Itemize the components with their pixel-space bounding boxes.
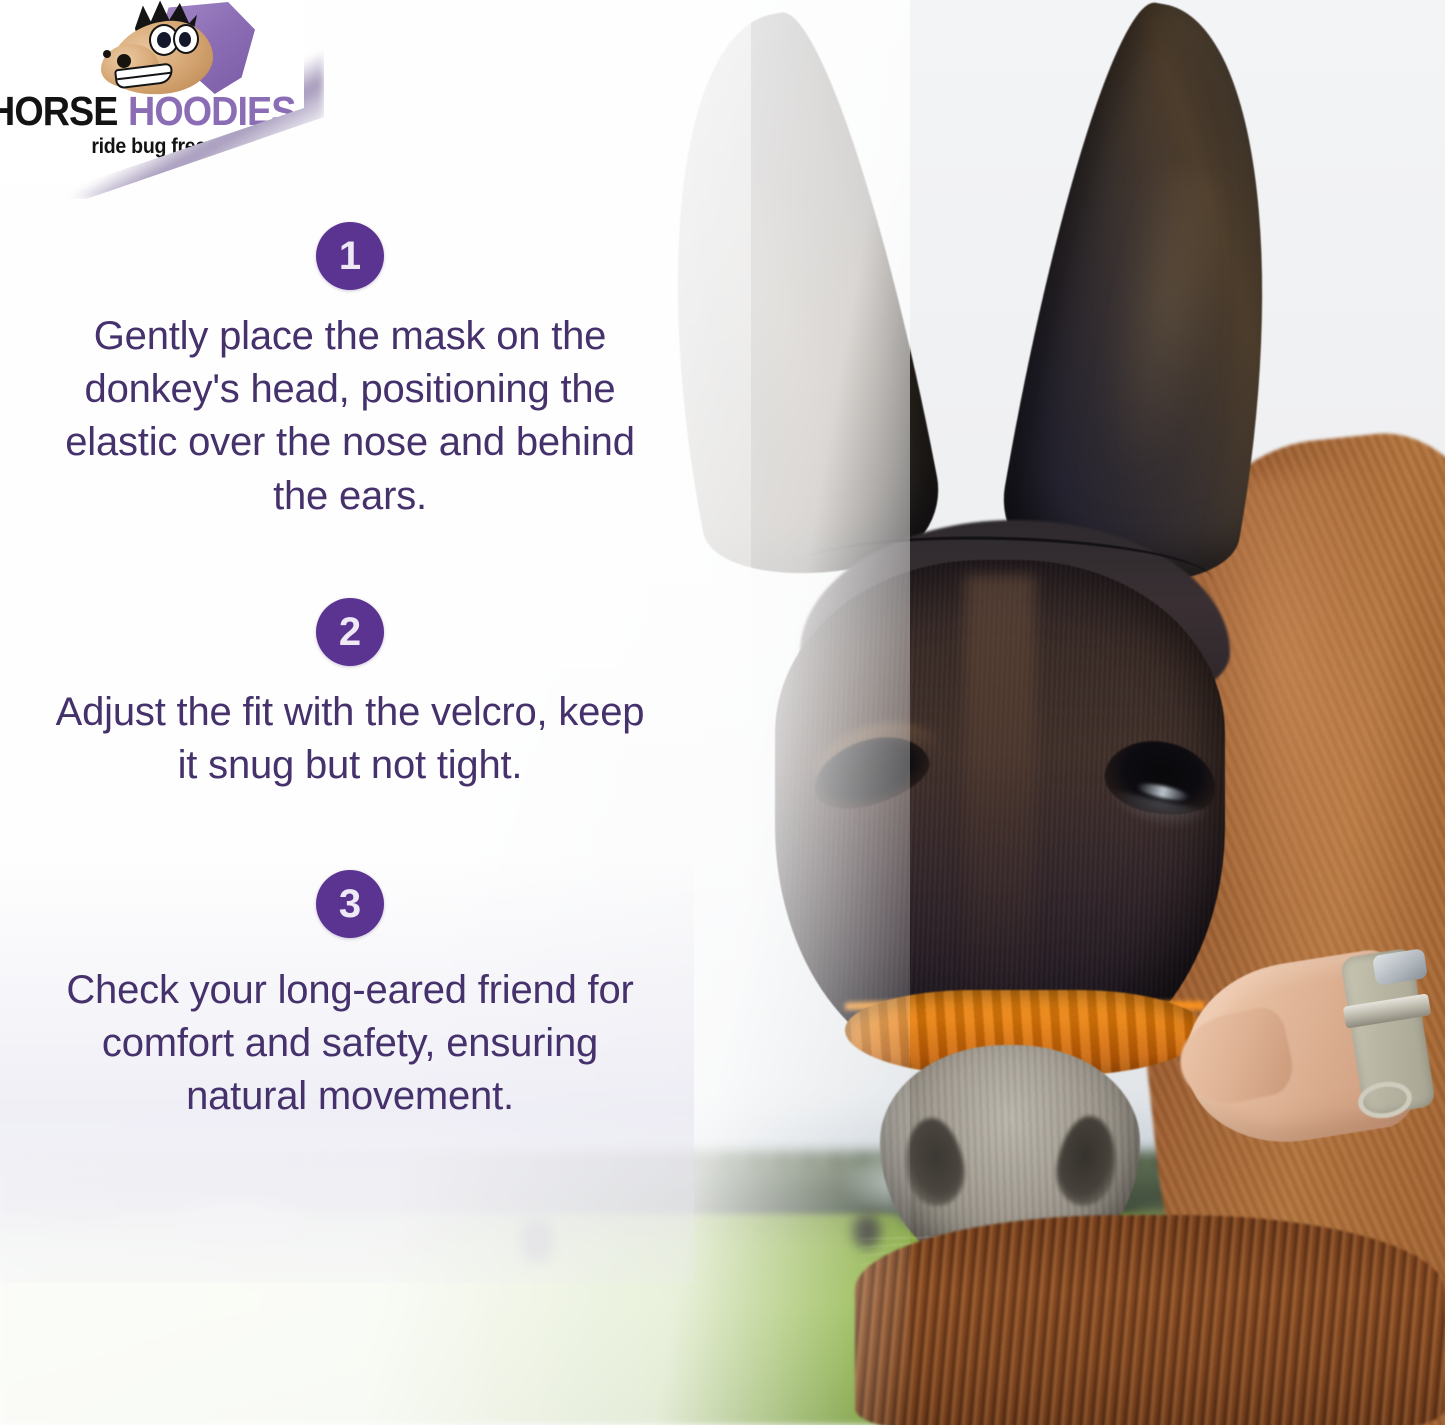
donkey-nasal-ridge bbox=[965, 575, 1035, 1005]
promo-graphic: HORSE HOODIES ride bug free 1 Gently pla… bbox=[0, 0, 1445, 1425]
step-2-badge: 2 bbox=[316, 598, 384, 666]
step-1-badge: 1 bbox=[316, 222, 384, 290]
step-3-badge: 3 bbox=[316, 870, 384, 938]
step-2-text: Adjust the fit with the velcro, keep it … bbox=[0, 686, 700, 792]
step-3-text: Check your long-eared friend for comfort… bbox=[0, 964, 700, 1124]
step-1: 1 Gently place the mask on the donkey's … bbox=[0, 222, 700, 523]
donkey-chest-fur bbox=[855, 1215, 1445, 1425]
instruction-steps: 1 Gently place the mask on the donkey's … bbox=[0, 0, 700, 1425]
step-3: 3 Check your long-eared friend for comfo… bbox=[0, 870, 700, 1124]
step-2: 2 Adjust the fit with the velcro, keep i… bbox=[0, 598, 700, 792]
step-1-text: Gently place the mask on the donkey's he… bbox=[0, 310, 700, 523]
